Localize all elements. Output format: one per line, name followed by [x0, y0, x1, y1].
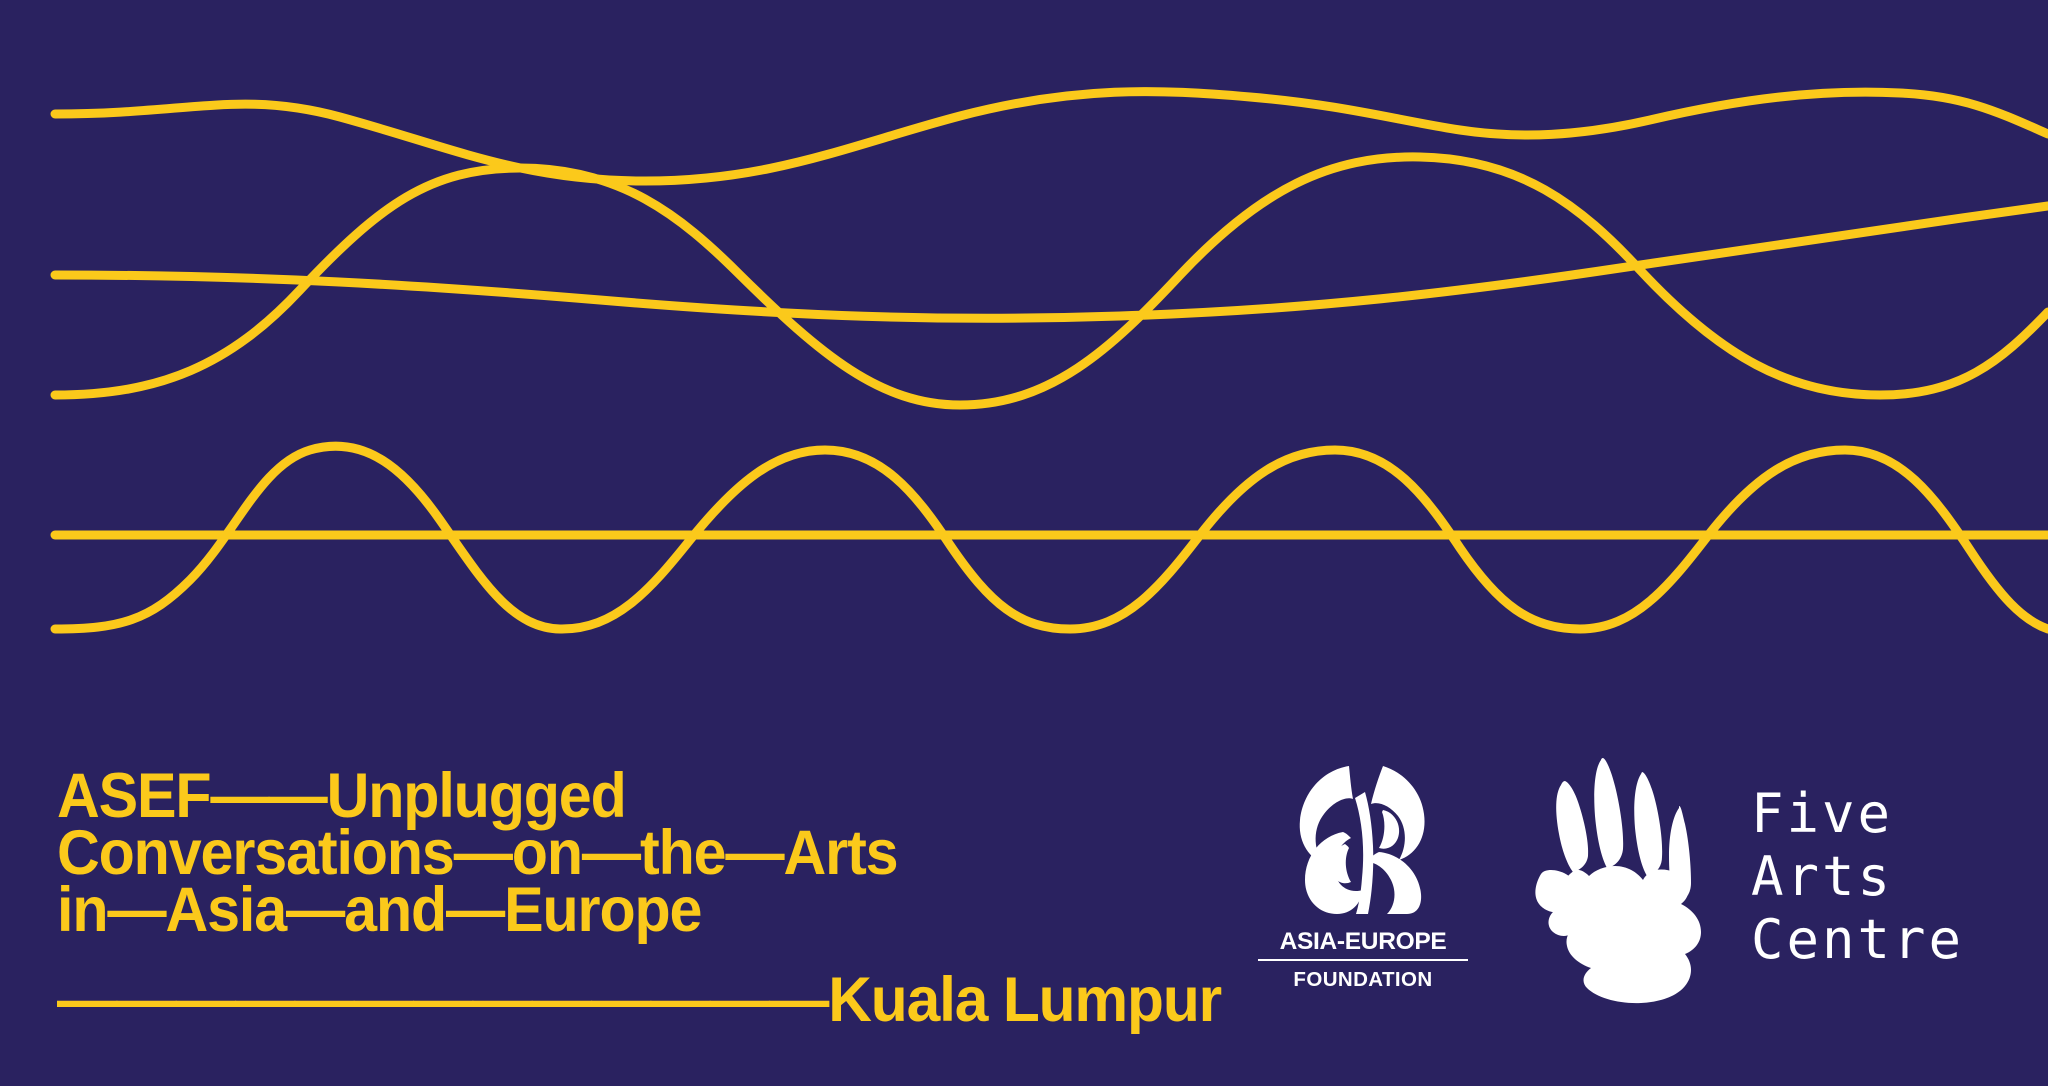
fac-word-centre: Centre: [1751, 908, 1964, 971]
asef-wordmark: ASIA-EUROPE FOUNDATION: [1258, 928, 1468, 992]
asef-butterfly-mark: [1283, 760, 1443, 920]
title-line-1: ASEF——Unplugged: [57, 768, 1006, 825]
title-line-3: in—Asia—and—Europe: [57, 882, 1006, 939]
wave-2: [55, 157, 2048, 405]
logo-row: ASIA-EUROPE FOUNDATION: [1258, 760, 1998, 1010]
poster-canvas: ASEF——Unplugged Conversations—on—the—Art…: [0, 0, 2048, 1086]
handprint-icon: [1533, 752, 1738, 1012]
asef-name-line: ASIA-EUROPE: [1258, 928, 1468, 961]
page-title: ASEF——Unplugged Conversations—on—the—Art…: [57, 768, 1067, 1029]
wave-4: [55, 446, 2048, 629]
five-arts-centre-wordmark: Five Arts Centre: [1751, 782, 1964, 971]
title-line-location: —————————————Kuala Lumpur: [57, 972, 849, 1029]
wave-1: [55, 92, 2048, 181]
asef-logo: ASIA-EUROPE FOUNDATION: [1258, 760, 1468, 1000]
fac-word-arts: Arts: [1751, 845, 1964, 908]
wave-3: [55, 206, 2048, 318]
five-arts-centre-logo: Five Arts Centre: [1533, 752, 1998, 1012]
asef-foundation-line: FOUNDATION: [1258, 968, 1468, 992]
fac-word-five: Five: [1751, 782, 1964, 845]
title-line-2: Conversations—on—the—Arts: [57, 825, 1006, 882]
